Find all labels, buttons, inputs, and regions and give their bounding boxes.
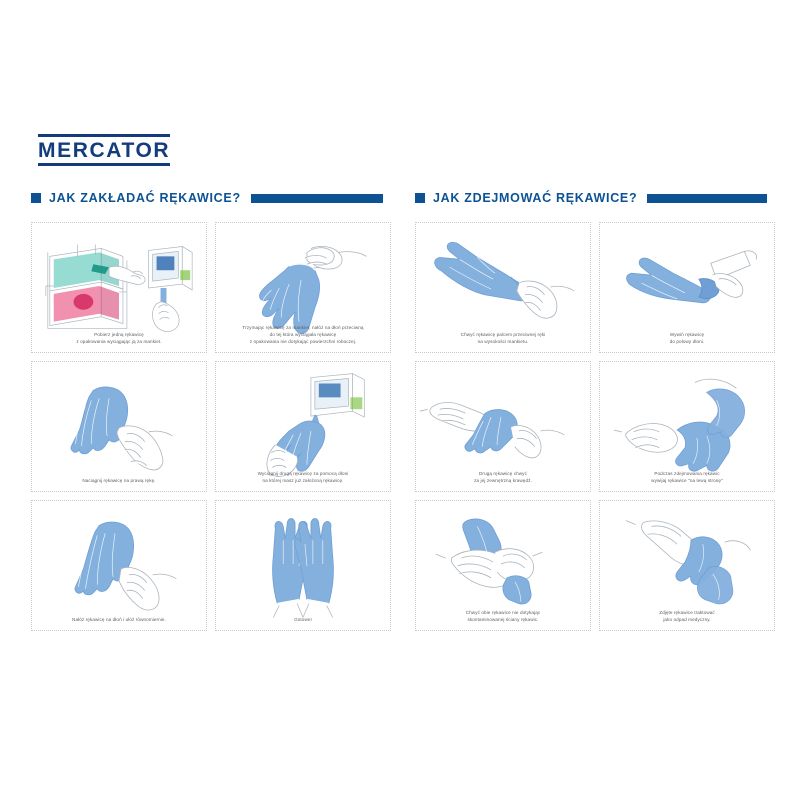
step-panel: Gotowe!	[215, 500, 391, 631]
section-title-doffing: JAK ZDEJMOWAĆ RĘKAWICE?	[433, 191, 637, 205]
step-panel: Naciągnij rękawicę na prawą rękę.	[31, 361, 207, 492]
step-panel: Podczas zdejmowania rękawic wywijaj ręka…	[599, 361, 775, 492]
step-panel: Trzymając rękawicę za mankiet, nałóż na …	[215, 222, 391, 353]
section-title-donning: JAK ZAKŁADAĆ RĘKAWICE?	[49, 191, 241, 205]
step-caption: Naciągnij rękawicę na prawą rękę.	[37, 477, 201, 491]
step-panel: Chwyć obie rękawice nie dotykając skonta…	[415, 500, 591, 631]
step-panel: Drugą rękawicę chwyć za jej zewnętrzną k…	[415, 361, 591, 492]
step-caption: Chwyć rękawicę palcem przeciwnej ręki na…	[421, 331, 585, 352]
header-rule	[647, 194, 767, 203]
poster-page: MERCATOR JAK ZAKŁADAĆ RĘKAWICE? JAK ZDEJ…	[0, 0, 800, 800]
section-header-donning: JAK ZAKŁADAĆ RĘKAWICE?	[31, 191, 383, 205]
step-caption: Gotowe!	[221, 616, 385, 630]
step-caption: Podczas zdejmowania rękawic wywijaj ręka…	[605, 470, 769, 491]
step-panel: Pobierz jedną rękawicę z opakowania wyci…	[31, 222, 207, 353]
step-caption: Chwyć obie rękawice nie dotykając skonta…	[421, 609, 585, 630]
step-caption: Drugą rękawicę chwyć za jej zewnętrzną k…	[421, 470, 585, 491]
illustration-fit-evenly	[32, 501, 206, 630]
step-panel: Chwyć rękawicę palcem przeciwnej ręki na…	[415, 222, 591, 353]
step-caption: Zdjęte rękawice traktować jako odpad med…	[605, 609, 769, 630]
mercator-logo: MERCATOR	[38, 134, 170, 166]
step-panel: Wywiń rękawicę do połowy dłoni.	[599, 222, 775, 353]
step-panel: Zdjęte rękawice traktować jako odpad med…	[599, 500, 775, 631]
header-rule	[251, 194, 383, 203]
step-caption: Trzymając rękawicę za mankiet, nałóż na …	[221, 324, 385, 352]
step-caption: Pobierz jedną rękawicę z opakowania wyci…	[37, 331, 201, 352]
step-caption: Wyciągnij drugą rękawicę za pomocą dłoni…	[221, 470, 385, 491]
square-bullet-icon	[31, 193, 41, 203]
logo-wordmark: MERCATOR	[38, 134, 170, 166]
steps-grid-doffing: Chwyć rękawicę palcem przeciwnej ręki na…	[415, 222, 775, 631]
square-bullet-icon	[415, 193, 425, 203]
step-caption: Wywiń rękawicę do połowy dłoni.	[605, 331, 769, 352]
step-panel: Nałóż rękawicę na dłoń i ułóż równomiern…	[31, 500, 207, 631]
illustration-pull-right-hand	[32, 362, 206, 491]
step-caption: Nałóż rękawicę na dłoń i ułóż równomiern…	[37, 616, 201, 630]
section-header-doffing: JAK ZDEJMOWAĆ RĘKAWICE?	[415, 191, 767, 205]
illustration-both-gloves	[216, 501, 390, 630]
steps-grid-donning: Pobierz jedną rękawicę z opakowania wyci…	[31, 222, 391, 631]
step-panel: Wyciągnij drugą rękawicę za pomocą dłoni…	[215, 361, 391, 492]
